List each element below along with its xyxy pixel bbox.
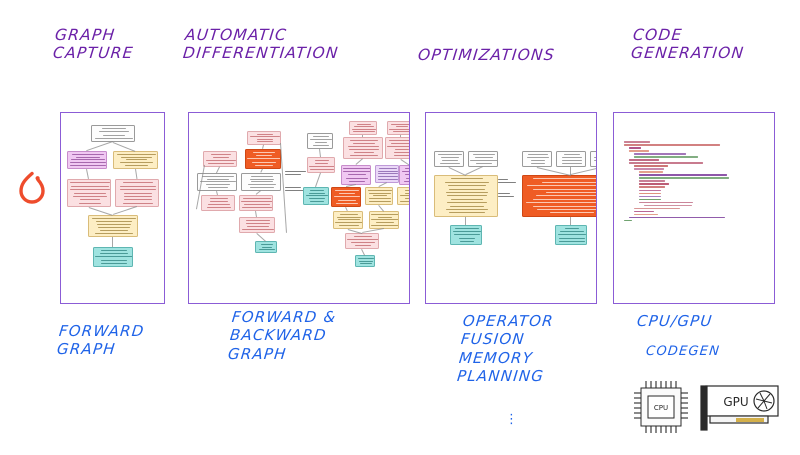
graph-node bbox=[203, 151, 237, 167]
ellipsis-vertical: ⋮ bbox=[505, 412, 518, 427]
graph-node bbox=[468, 151, 498, 167]
hardware-icons: CPU GPU bbox=[630, 378, 780, 434]
code-line bbox=[634, 153, 686, 155]
graph-node bbox=[355, 255, 375, 267]
code-line bbox=[629, 150, 649, 152]
graph-edge bbox=[87, 141, 113, 151]
panel-graph-capture bbox=[60, 112, 165, 304]
code-line bbox=[639, 171, 663, 173]
graph-node bbox=[450, 225, 482, 245]
heading-graph-capture: GRAPH CAPTURE bbox=[52, 26, 136, 63]
code-line bbox=[629, 147, 641, 149]
graph-node bbox=[387, 121, 410, 135]
code-line bbox=[639, 202, 693, 204]
graph-node bbox=[239, 195, 273, 211]
gpu-card-icon: GPU bbox=[696, 382, 782, 434]
graph-node bbox=[375, 165, 399, 183]
graph-edge bbox=[362, 135, 363, 137]
graph-node bbox=[201, 195, 235, 211]
code-line bbox=[629, 159, 659, 161]
panel-optimizations bbox=[425, 112, 597, 304]
code-line bbox=[624, 141, 650, 143]
graph-edge bbox=[113, 206, 137, 215]
code-line bbox=[634, 168, 664, 170]
graph-edge bbox=[135, 169, 137, 179]
graph-node bbox=[113, 151, 158, 169]
graph-edge bbox=[86, 169, 89, 179]
pytorch-logo bbox=[14, 166, 50, 208]
caption-codegen: CODEGEN bbox=[645, 344, 721, 360]
graph-annotation bbox=[498, 179, 516, 184]
graph-edge bbox=[315, 173, 321, 187]
code-line bbox=[644, 205, 692, 207]
graph-edge bbox=[409, 185, 410, 187]
graph-node bbox=[67, 179, 111, 207]
code-line bbox=[639, 193, 661, 195]
graph-node bbox=[239, 217, 275, 233]
graph-node bbox=[241, 173, 281, 191]
graph-node bbox=[365, 187, 393, 205]
graph-node bbox=[399, 165, 410, 185]
graph-edge bbox=[216, 191, 218, 195]
code-line bbox=[624, 144, 720, 146]
graph-node bbox=[255, 241, 277, 253]
graph-node bbox=[303, 187, 329, 205]
code-line bbox=[634, 156, 698, 158]
code-line bbox=[624, 220, 632, 222]
code-line bbox=[639, 186, 665, 188]
code-line bbox=[634, 214, 658, 216]
graph-edge bbox=[570, 217, 571, 225]
graph-node bbox=[88, 215, 138, 237]
code-line bbox=[639, 190, 661, 192]
graph-node bbox=[343, 137, 383, 159]
graph-node bbox=[434, 175, 498, 217]
graph-node bbox=[91, 125, 135, 142]
graph-edge bbox=[255, 211, 257, 217]
graph-node bbox=[522, 175, 597, 217]
code-line bbox=[639, 180, 665, 182]
graph-node bbox=[555, 225, 587, 245]
graph-node bbox=[434, 151, 464, 167]
caption-optimizations-list: OPERATOR FUSION MEMORY PLANNING bbox=[456, 312, 555, 385]
code-line bbox=[634, 165, 668, 167]
code-line bbox=[634, 211, 654, 213]
graph-node bbox=[333, 211, 363, 229]
graph-node bbox=[307, 157, 335, 173]
graph-node bbox=[67, 151, 107, 169]
caption-cpu-gpu: CPU/GPU bbox=[636, 312, 714, 330]
code-line bbox=[639, 199, 661, 201]
graph-node bbox=[247, 131, 281, 145]
graph-annotation bbox=[498, 193, 518, 198]
panel-automatic-differentiation bbox=[188, 112, 410, 304]
graph-edge bbox=[112, 237, 113, 247]
gpu-icon-label: GPU bbox=[723, 395, 748, 409]
graph-node bbox=[345, 233, 379, 249]
caption-forward-graph: FORWARD GRAPH bbox=[56, 322, 145, 359]
diagram-canvas: GRAPH CAPTURE AUTOMATIC DIFFERENTIATION … bbox=[0, 0, 800, 455]
graph-edge bbox=[319, 149, 321, 157]
graph-node bbox=[245, 149, 281, 169]
caption-forward-backward-graph: FORWARD & BACKWARD GRAPH bbox=[227, 308, 337, 363]
graph-node bbox=[369, 211, 399, 229]
graph-annotation bbox=[285, 171, 307, 176]
graph-node bbox=[341, 165, 371, 185]
heading-code-generation: CODE GENERATION bbox=[630, 26, 747, 63]
code-line bbox=[639, 183, 669, 185]
cpu-chip-icon: CPU bbox=[630, 378, 692, 434]
panel-code-generation bbox=[613, 112, 775, 304]
code-line bbox=[629, 217, 725, 219]
code-line bbox=[639, 174, 727, 176]
graph-node bbox=[307, 133, 333, 149]
graph-node bbox=[93, 247, 133, 267]
graph-edge bbox=[571, 166, 597, 175]
graph-node bbox=[385, 137, 410, 159]
graph-node bbox=[556, 151, 586, 167]
code-line bbox=[629, 162, 703, 164]
graph-node bbox=[522, 151, 552, 167]
heading-optimizations: OPTIMIZATIONS bbox=[417, 46, 556, 64]
graph-node bbox=[397, 187, 410, 205]
graph-node bbox=[331, 187, 361, 207]
code-line bbox=[634, 208, 680, 210]
graph-node bbox=[115, 179, 159, 207]
graph-node bbox=[349, 121, 377, 135]
graph-edge bbox=[400, 135, 401, 137]
cpu-icon-label: CPU bbox=[654, 404, 668, 412]
code-line bbox=[639, 177, 729, 179]
graph-edge bbox=[465, 217, 466, 225]
graph-node bbox=[590, 151, 597, 167]
heading-automatic-differentiation: AUTOMATIC DIFFERENTIATION bbox=[182, 26, 341, 63]
code-line bbox=[639, 196, 661, 198]
generated-code-block bbox=[624, 141, 766, 223]
graph-edge bbox=[466, 166, 483, 175]
